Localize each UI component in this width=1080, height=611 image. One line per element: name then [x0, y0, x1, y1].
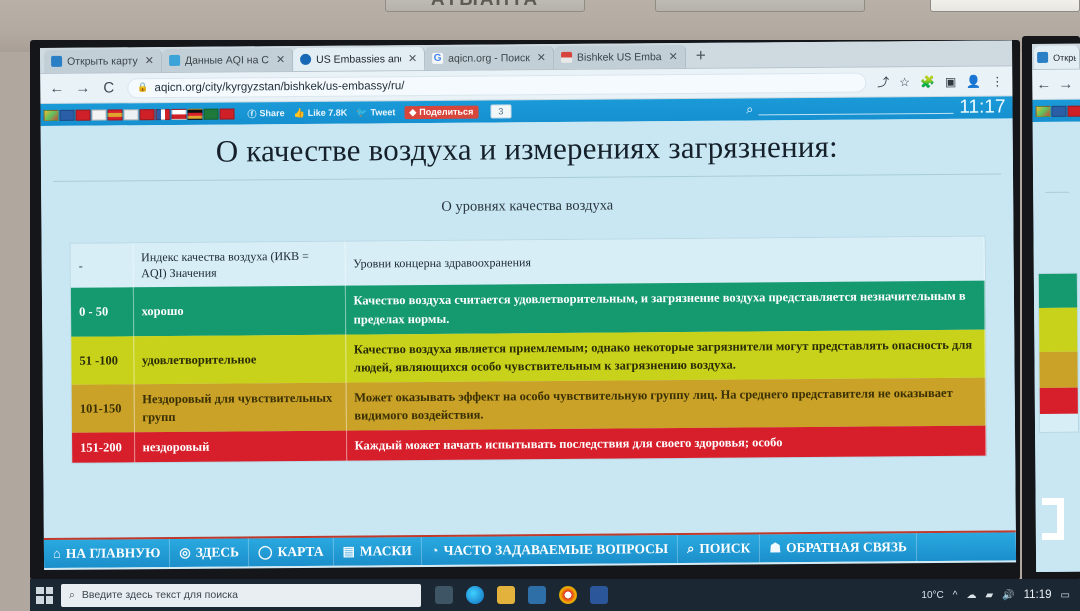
- nav-label: КАРТА: [278, 544, 324, 560]
- facebook-share-label: Share: [259, 108, 284, 118]
- social-share-buttons: ⓕ Share 👍 Like 7.8K 🐦 Tweet ◆ Поделиться…: [247, 104, 511, 120]
- chrome-icon[interactable]: [559, 586, 577, 604]
- nav-label: НА ГЛАВНУЮ: [66, 545, 161, 562]
- twitter-icon: 🐦: [356, 107, 367, 118]
- forward-icon[interactable]: →: [75, 80, 90, 97]
- tab-favicon: [51, 56, 62, 67]
- aqi-levels-table: - Индекс качества воздуха (ИКВ = AQI) Зн…: [71, 237, 987, 463]
- forward-icon[interactable]: →: [1058, 76, 1073, 93]
- chat-icon: ◔: [431, 543, 439, 559]
- flag-icon[interactable]: [59, 109, 74, 120]
- flag-icon[interactable]: [171, 108, 186, 119]
- aqi-level: Нездоровый для чувствительных групп: [134, 382, 346, 432]
- facebook-share-button[interactable]: ⓕ Share: [247, 107, 284, 120]
- secondary-monitor-screen: Открыть карту ← → ⌂: [1032, 44, 1080, 572]
- aqi-range: 151-200: [72, 432, 134, 463]
- aqi-description: Может оказывать эффект на особо чувствит…: [346, 377, 986, 430]
- location-pin-icon: ◎: [179, 545, 190, 561]
- browser-toolbar-icons: ⤴ ☆ 🧩 ▣ 👤 ⋮: [877, 72, 1003, 90]
- profile-icon[interactable]: 👤: [966, 74, 981, 88]
- nav-item-map[interactable]: ◯ КАРТА: [249, 538, 334, 567]
- flag-icon[interactable]: [107, 109, 122, 120]
- tab-label: Bishkek US Emba: [577, 51, 662, 64]
- tab-favicon: [561, 52, 572, 63]
- close-icon[interactable]: ✕: [276, 53, 285, 66]
- site-search-input[interactable]: [758, 102, 953, 116]
- share-icon[interactable]: ⤴: [877, 73, 889, 90]
- facebook-icon: ⓕ: [247, 107, 256, 120]
- close-icon[interactable]: ✕: [145, 54, 154, 67]
- site-search[interactable]: ⌕: [746, 100, 959, 118]
- google-favicon: G: [432, 53, 443, 64]
- page-title: О качестве воздуха и измерениях загрязне…: [41, 118, 1013, 181]
- globe-icon: ◯: [258, 544, 273, 560]
- home-icon: ⌂: [53, 546, 61, 562]
- tab-favicon: [300, 54, 311, 65]
- browser-tab-2[interactable]: US Embassies and ✕: [293, 47, 425, 71]
- notifications-icon[interactable]: ▭: [1061, 590, 1070, 601]
- tab-favicon: [169, 55, 180, 66]
- taskbar-search-placeholder: Введите здесь текст для поиска: [82, 589, 238, 601]
- feedback-icon: ☗: [769, 540, 781, 556]
- nav-item-faq[interactable]: ◔ ЧАСТО ЗАДАВАЕМЫЕ ВОПРОСЫ: [422, 535, 679, 565]
- nav-label: ПОИСК: [699, 540, 750, 556]
- flag-icon[interactable]: [91, 109, 106, 120]
- nav-item-here[interactable]: ◎ ЗДЕСЬ: [170, 538, 249, 567]
- wall-sign-3: [930, 0, 1080, 12]
- flag-icon[interactable]: [187, 108, 202, 119]
- page-content-secondary: ⌂ НА: [1033, 122, 1080, 572]
- title-divider: [1045, 192, 1069, 193]
- page-content: О качестве воздуха и измерениях загрязне…: [41, 118, 1016, 568]
- aqi-range: 51 -100: [71, 336, 133, 385]
- aqi-description: Каждый может начать испытывать последств…: [346, 426, 986, 461]
- close-icon[interactable]: ✕: [537, 51, 546, 64]
- menu-icon[interactable]: ⋮: [991, 74, 1003, 88]
- windows-taskbar: ⌕ Введите здесь текст для поиска 10°C ^ …: [30, 579, 1080, 611]
- taskbar-search-input[interactable]: ⌕ Введите здесь текст для поиска: [61, 584, 421, 607]
- table-row: 101-150 Нездоровый для чувствительных гр…: [72, 377, 986, 432]
- search-icon: ⌕: [69, 589, 75, 602]
- table-header-row: - Индекс качества воздуха (ИКВ = AQI) Зн…: [71, 237, 985, 289]
- language-flag-list: [43, 108, 234, 120]
- aqi-level: хорошо: [133, 286, 345, 336]
- browser-tab-0[interactable]: Открыть карту: [1034, 46, 1080, 69]
- reload-icon[interactable]: C: [101, 79, 116, 96]
- system-tray: 10°C ^ ☁ ▰ 🔊 11:19 ▭: [921, 589, 1080, 601]
- windows-start-icon[interactable]: [36, 587, 53, 604]
- flag-icon[interactable]: [219, 108, 234, 119]
- nav-label: ОБРАТНАЯ СВЯЗЬ: [786, 539, 907, 556]
- browser-tab-4[interactable]: Bishkek US Emba ✕: [554, 45, 686, 69]
- aqi-level: нездоровый: [134, 431, 346, 463]
- nav-item-feedback[interactable]: ☗ ОБРАТНАЯ СВЯЗЬ: [760, 533, 917, 562]
- vk-share-button[interactable]: ◆ Поделиться: [404, 105, 478, 119]
- store-icon[interactable]: [528, 586, 546, 604]
- flag-icon[interactable]: [75, 109, 90, 120]
- edge-icon[interactable]: [466, 586, 484, 604]
- table-row: 51 -100 удовлетворительное Качество возд…: [71, 329, 985, 384]
- aqi-level: удовлетворительное: [133, 334, 345, 384]
- nav-item-masks[interactable]: ▤ МАСКИ: [333, 537, 421, 566]
- aqi-table-head: - Индекс качества воздуха (ИКВ = AQI) Зн…: [71, 237, 985, 289]
- new-tab-button[interactable]: +: [686, 46, 716, 68]
- site-clock: 11:17: [959, 96, 1012, 118]
- onedrive-icon[interactable]: ☁: [966, 590, 976, 601]
- nav-item-search[interactable]: ⌕ ПОИСК: [678, 534, 761, 563]
- header-cell-index: Индекс качества воздуха (ИКВ = AQI) Знач…: [133, 242, 345, 288]
- aqi-range: 0 - 50: [71, 288, 133, 337]
- table-row: 0 - 50 хорошо Качество воздуха считается…: [71, 281, 985, 336]
- flag-icon[interactable]: [155, 108, 170, 119]
- browser-tab-1[interactable]: Данные AQI на С ✕: [162, 48, 293, 72]
- vk-share-label: Поделиться: [419, 107, 473, 117]
- extensions-icon[interactable]: 🧩: [920, 74, 935, 88]
- taskbar-pinned-apps: [435, 586, 608, 604]
- back-icon[interactable]: ←: [1036, 76, 1051, 93]
- network-icon[interactable]: ▰: [985, 590, 993, 601]
- nav-item-home[interactable]: ⌂ НА ГЛАВНУЮ: [44, 539, 171, 568]
- site-social-bar-secondary: [1032, 100, 1080, 122]
- header-cell-blank: -: [71, 243, 133, 288]
- wall-sign-1: АТЫАПТА: [385, 0, 585, 12]
- section-subtitle: О уровнях качества воздуха: [41, 174, 1013, 243]
- task-view-icon[interactable]: [435, 586, 453, 604]
- mask-icon: ▤: [343, 544, 355, 560]
- back-icon[interactable]: ←: [49, 80, 64, 97]
- address-bar[interactable]: 🔒 aqicn.org/city/kyrgyzstan/bishkek/us-e…: [127, 72, 866, 98]
- table-row: [1039, 274, 1077, 308]
- flag-icon[interactable]: [203, 108, 218, 119]
- wall-sign-2: [655, 0, 865, 12]
- lock-icon: 🔒: [137, 82, 148, 93]
- photographed-monitor-scene: АТЫАПТА Открыть карту ✕ Данные AQI на С …: [0, 0, 1080, 611]
- volume-icon[interactable]: 🔊: [1002, 590, 1014, 601]
- aqi-description: Качество воздуха является приемлемым; од…: [345, 329, 985, 382]
- tab-label: Открыть карту: [1053, 52, 1076, 62]
- table-row: 151-200 нездоровый Каждый может начать и…: [72, 426, 986, 463]
- twitter-tweet-label: Tweet: [370, 107, 395, 117]
- aqi-range: 101-150: [72, 384, 134, 433]
- thumbs-up-icon: 👍: [294, 107, 305, 118]
- nav-label: ЗДЕСЬ: [196, 544, 239, 560]
- tab-label: aqicn.org - Поиск: [448, 52, 530, 65]
- flag-icon[interactable]: [43, 109, 58, 120]
- flag-icon[interactable]: [123, 109, 138, 120]
- collections-icon[interactable]: ▣: [945, 74, 956, 88]
- close-icon[interactable]: ✕: [408, 52, 417, 65]
- primary-monitor-screen: Открыть карту ✕ Данные AQI на С ✕ US Emb…: [40, 40, 1016, 570]
- site-footer-nav: ⌂ НА ГЛАВНУЮ ◎ ЗДЕСЬ ◯ КАРТА ▤ МАСКИ ◔: [44, 530, 1016, 568]
- aqi-table-container: [1038, 273, 1079, 433]
- star-icon[interactable]: ☆: [899, 75, 910, 89]
- tab-label: US Embassies and: [316, 53, 401, 66]
- table-row: [1039, 352, 1077, 388]
- word-icon[interactable]: [590, 586, 608, 604]
- twitter-tweet-button[interactable]: 🐦 Tweet: [356, 107, 395, 118]
- taskbar-clock[interactable]: 11:19: [1024, 589, 1052, 601]
- facebook-like-button[interactable]: 👍 Like 7.8K: [294, 107, 348, 118]
- flag-icon[interactable]: [1035, 105, 1050, 116]
- browser-navbar-secondary: ← →: [1032, 70, 1080, 100]
- tab-favicon: [1037, 52, 1048, 63]
- close-icon[interactable]: ✕: [669, 50, 678, 63]
- aqi-table-body: 0 - 50 хорошо Качество воздуха считается…: [71, 281, 986, 463]
- address-bar-url: aqicn.org/city/kyrgyzstan/bishkek/us-emb…: [154, 80, 404, 94]
- table-row: [1040, 388, 1078, 414]
- facebook-like-label: Like 7.8K: [308, 108, 348, 118]
- header-cell-concern: Уровни концерна здравоохранения: [345, 237, 985, 286]
- browser-tabstrip-secondary: Открыть карту: [1032, 44, 1080, 70]
- chevron-up-icon[interactable]: ^: [953, 590, 958, 601]
- search-icon: ⌕: [687, 541, 694, 557]
- vk-share-icon: ◆: [409, 107, 416, 118]
- nav-label: МАСКИ: [360, 543, 412, 559]
- table-row: [1039, 308, 1077, 352]
- search-icon: ⌕: [746, 101, 753, 117]
- file-explorer-icon[interactable]: [497, 586, 515, 604]
- flag-icon[interactable]: [1051, 105, 1066, 116]
- aqi-description: Качество воздуха считается удовлетворите…: [345, 281, 985, 334]
- weather-temp[interactable]: 10°C: [921, 590, 943, 601]
- nav-label: ЧАСТО ЗАДАВАЕМЫЕ ВОПРОСЫ: [444, 541, 669, 559]
- tab-label: Открыть карту: [67, 55, 138, 68]
- flag-icon[interactable]: [139, 109, 154, 120]
- flag-icon[interactable]: [1067, 105, 1080, 116]
- share-count-badge: 3: [490, 104, 511, 118]
- aqi-table-container: - Индекс качества воздуха (ИКВ = AQI) Зн…: [70, 236, 988, 464]
- browser-tab-0[interactable]: Открыть карту ✕: [44, 49, 162, 73]
- language-flag-list: [1035, 105, 1080, 116]
- browser-tab-3[interactable]: G aqicn.org - Поиск ✕: [425, 46, 554, 70]
- tab-label: Данные AQI на С: [185, 54, 269, 67]
